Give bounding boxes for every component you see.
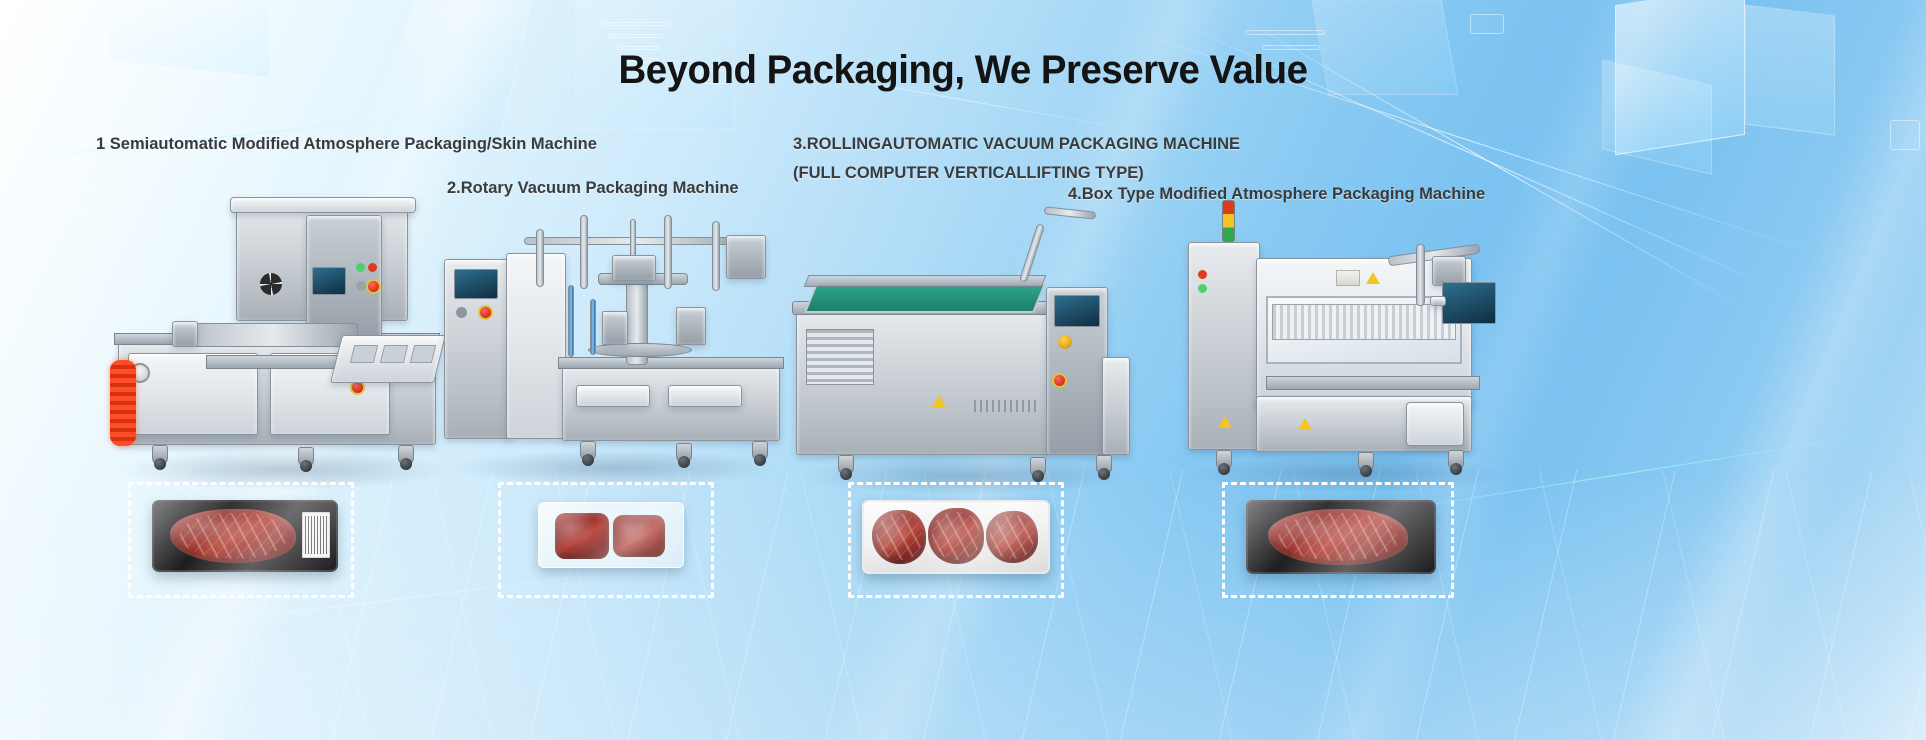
emergency-stop-button[interactable]: [1052, 373, 1067, 388]
tray-cavity: [380, 345, 408, 363]
valve-block: [602, 311, 628, 345]
cooling-fan-icon: [260, 273, 282, 295]
tray-cavity: [410, 345, 436, 363]
caster-wheel: [1030, 457, 1046, 477]
vacuum-chamber-belt: [804, 283, 1046, 313]
vacuum-hose: [1019, 223, 1045, 283]
conveyor-outfeed: [1266, 376, 1480, 390]
vacuum-meat-product: [613, 515, 665, 557]
product-tray-4: [1246, 500, 1436, 574]
caster-wheel: [676, 443, 692, 463]
indicator-light-red: [1198, 270, 1207, 279]
tray-cavity: [350, 345, 378, 363]
vertical-post: [536, 229, 544, 287]
hmi-touchscreen[interactable]: [1054, 295, 1100, 327]
warning-triangle-icon: [1366, 272, 1380, 284]
product-tray-2: [538, 502, 684, 568]
caster-wheel: [838, 455, 854, 475]
base-top-plate: [558, 357, 784, 369]
vertical-post: [712, 221, 720, 291]
hmi-arm: [1430, 296, 1446, 306]
side-housing: [1102, 357, 1130, 455]
vertical-post: [664, 215, 672, 289]
caster-wheel: [298, 447, 314, 467]
circuit-trace: [600, 22, 670, 26]
vacuum-meat-product: [555, 513, 609, 559]
steak-product: [872, 510, 926, 564]
air-hose-coil: [110, 360, 136, 446]
junction-box: [726, 235, 766, 279]
hmi-touchscreen[interactable]: [1442, 282, 1496, 324]
housing-top-lid: [230, 197, 416, 213]
ventilation-louvers: [806, 329, 874, 385]
hmi-touchscreen[interactable]: [312, 267, 346, 295]
machine-caption-2: 2.Rotary Vacuum Packaging Machine: [447, 174, 739, 203]
selector-knob[interactable]: [1058, 335, 1072, 349]
caster-wheel: [398, 445, 414, 465]
emergency-stop-button[interactable]: [478, 305, 493, 320]
film-roll: [188, 323, 358, 347]
caster-wheel: [152, 445, 168, 465]
machine-illustration-2: [440, 215, 790, 480]
warning-triangle-icon: [932, 395, 946, 407]
chamber-lid: [804, 275, 1047, 287]
caster-wheel: [580, 441, 596, 461]
circuit-trace: [608, 34, 664, 38]
mesh-conveyor: [1272, 304, 1456, 340]
selector-knob[interactable]: [456, 307, 467, 318]
circuit-trace: [1245, 30, 1325, 35]
caster-wheel: [1096, 455, 1112, 475]
hazard-decal: [1336, 270, 1360, 286]
stack-light-beacon: [1222, 200, 1235, 242]
film-roll-motor: [172, 321, 198, 347]
warning-triangle-icon: [1298, 418, 1312, 430]
machine-illustration-1: [110, 195, 450, 485]
indicator-light-green: [356, 263, 365, 272]
emergency-stop-button[interactable]: [366, 279, 381, 294]
pneumatic-cylinder: [612, 255, 656, 281]
machine-shadow: [450, 450, 780, 486]
rotary-turntable: [588, 343, 692, 357]
drawer-left: [576, 385, 650, 407]
circuit-trace: [1890, 120, 1920, 150]
access-door: [1406, 402, 1464, 446]
warning-triangle-icon: [1218, 416, 1232, 428]
machine-caption-1: 1 Semiautomatic Modified Atmosphere Pack…: [96, 130, 597, 159]
machine-illustration-4: [1180, 200, 1510, 490]
steak-product: [986, 511, 1038, 563]
steak-product: [1268, 509, 1408, 565]
valve-block: [676, 307, 706, 345]
indicator-light-red: [368, 263, 377, 272]
selector-knob[interactable]: [356, 281, 366, 291]
vertical-post: [580, 215, 588, 289]
caster-wheel: [1448, 450, 1464, 470]
steak-product: [928, 508, 984, 564]
promotional-banner: Beyond Packaging, We Preserve Value 1 Se…: [0, 0, 1926, 740]
banner-title: Beyond Packaging, We Preserve Value: [39, 48, 1888, 93]
caster-wheel: [1216, 450, 1232, 470]
steak-product: [170, 509, 296, 563]
drawer-right: [668, 385, 742, 407]
caster-wheel: [1358, 452, 1374, 472]
blue-air-line: [590, 299, 596, 355]
blue-air-line: [568, 285, 574, 357]
hmi-touchscreen[interactable]: [454, 269, 498, 299]
indicator-light-green: [1198, 284, 1207, 293]
caster-wheel: [752, 441, 768, 461]
product-tray-1: [152, 500, 338, 572]
product-label: [302, 512, 330, 558]
machine-brand-text: [974, 400, 1036, 412]
circuit-trace: [1470, 14, 1504, 34]
light-beam: [1530, 0, 1926, 740]
machine-illustration-3: [792, 265, 1132, 490]
circuit-trace: [60, 190, 106, 216]
gantry-post: [1416, 244, 1425, 306]
product-tray-3: [862, 500, 1050, 574]
